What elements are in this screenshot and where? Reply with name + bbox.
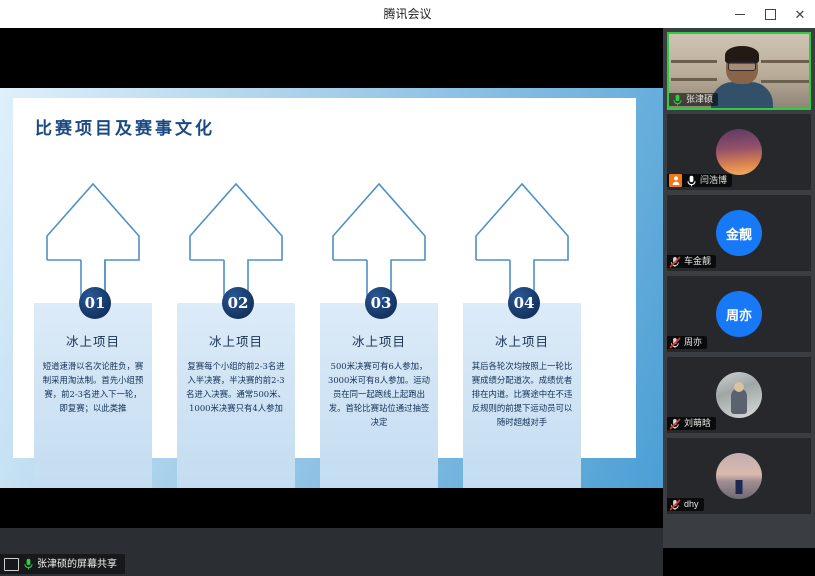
tencent-meeting-window: 腾讯会议 ✕ 比赛项目及赛事文化 — [0, 0, 815, 548]
microphone-muted-icon — [669, 499, 681, 511]
avatar — [716, 129, 762, 175]
screen-share-label: 张津硕的屏幕共享 — [37, 558, 117, 571]
microphone-icon — [671, 94, 683, 106]
card-heading: 冰上项目 — [320, 331, 438, 350]
close-icon: ✕ — [795, 8, 806, 21]
card-number-badge: 04 — [508, 287, 540, 319]
card-number-badge: 01 — [79, 287, 111, 319]
shared-screen-stage: 比赛项目及赛事文化 — [0, 28, 663, 548]
participant-name-bar: 车金靓 — [667, 255, 716, 268]
participant-tile[interactable]: 周亦 周亦 — [667, 276, 811, 352]
card-body-text: 短道速滑以名次论胜负，赛制采用淘汰制。首先小组预赛，前2-3名进入下一轮，即复赛… — [41, 359, 145, 415]
screen-share-status-chip: 张津硕的屏幕共享 — [0, 554, 125, 574]
title-bar: 腾讯会议 ✕ — [0, 0, 815, 29]
card-heading: 冰上项目 — [177, 331, 295, 350]
presentation-slide: 比赛项目及赛事文化 — [0, 88, 663, 488]
participant-rail[interactable]: 张津硕 闫浩博 — [663, 28, 815, 548]
avatar — [716, 372, 762, 418]
close-button[interactable]: ✕ — [785, 0, 815, 28]
background-shelf — [671, 78, 717, 81]
card-heading: 冰上项目 — [34, 331, 152, 350]
participant-name-bar: dhy — [667, 498, 704, 511]
participant-name-bar: 闫浩博 — [667, 174, 732, 187]
participant-name: dhy — [684, 498, 699, 511]
microphone-muted-icon — [669, 337, 681, 349]
avatar — [716, 453, 762, 499]
participant-name: 闫浩博 — [700, 174, 727, 187]
background-shelf — [761, 60, 809, 63]
minimize-icon — [735, 14, 745, 15]
participant-tile[interactable]: 闫浩博 — [667, 114, 811, 190]
minimize-button[interactable] — [725, 0, 755, 28]
participant-name-bar: 刘萌晗 — [667, 417, 716, 430]
window-controls: ✕ — [725, 0, 815, 28]
participant-name-bar: 周亦 — [667, 336, 707, 349]
microphone-icon — [22, 558, 34, 570]
card-body-text: 其后各轮次均按照上一轮比赛成绩分配道次。成绩优者排在内道。比赛途中在不违反规则的… — [470, 359, 574, 429]
participant-tile[interactable]: 金靓 车金靓 — [667, 195, 811, 271]
screen-share-icon — [4, 558, 19, 571]
slide-card: 冰上项目 500米决赛可有6人参加，3000米可有8人参加。运动员在同一起跑线上… — [320, 303, 438, 488]
participant-name: 张津硕 — [686, 93, 713, 106]
avatar: 金靓 — [716, 210, 762, 256]
background-shelf — [761, 80, 809, 83]
background-shelf — [671, 60, 717, 63]
slide-card: 冰上项目 短道速滑以名次论胜负，赛制采用淘汰制。首先小组预赛，前2-3名进入下一… — [34, 303, 152, 488]
avatar: 周亦 — [716, 291, 762, 337]
participant-name: 周亦 — [684, 336, 702, 349]
maximize-button[interactable] — [755, 0, 785, 28]
slide-card-list: 01 冰上项目 短道速滑以名次论胜负，赛制采用淘汰制。首先小组预赛，前2-3名进… — [0, 88, 663, 488]
participant-name-bar: 张津硕 — [669, 93, 718, 106]
participant-tile[interactable]: dhy — [667, 438, 811, 514]
card-body-text: 500米决赛可有6人参加，3000米可有8人参加。运动员在同一起跑线上起跑出发。… — [327, 359, 431, 429]
raise-hand-icon — [669, 174, 682, 187]
card-number-badge: 03 — [365, 287, 397, 319]
microphone-muted-icon — [669, 418, 681, 430]
glasses-icon — [728, 62, 756, 71]
maximize-icon — [765, 9, 776, 20]
window-title: 腾讯会议 — [0, 0, 815, 28]
slide-card: 冰上项目 复赛每个小组的前2-3名进入半决赛，半决赛的前2-3名进入决赛。通常5… — [177, 303, 295, 488]
avatar-figure — [736, 480, 743, 494]
microphone-muted-icon — [669, 256, 681, 268]
participant-name: 车金靓 — [684, 255, 711, 268]
person-torso — [711, 82, 773, 110]
participant-name: 刘萌晗 — [684, 417, 711, 430]
card-number-badge: 02 — [222, 287, 254, 319]
slide-card: 冰上项目 其后各轮次均按照上一轮比赛成绩分配道次。成绩优者排在内道。比赛途中在不… — [463, 303, 581, 488]
microphone-icon — [685, 175, 697, 187]
card-heading: 冰上项目 — [463, 331, 581, 350]
participant-tile[interactable]: 刘萌晗 — [667, 357, 811, 433]
card-body-text: 复赛每个小组的前2-3名进入半决赛，半决赛的前2-3名进入决赛。通常500米、1… — [184, 359, 288, 415]
participant-tile[interactable]: 张津硕 — [667, 32, 811, 110]
avatar-figure-head — [734, 382, 744, 392]
